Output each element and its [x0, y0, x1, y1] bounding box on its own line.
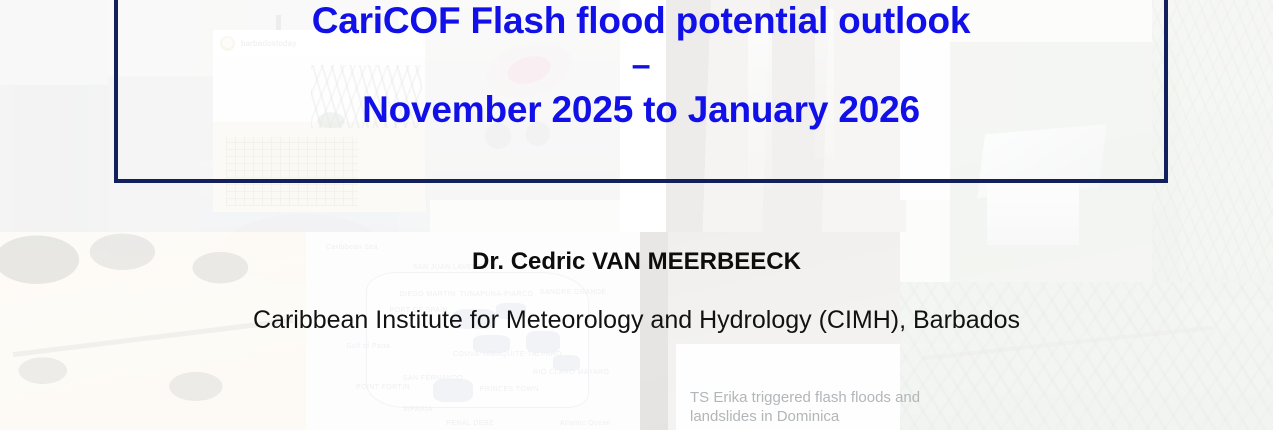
- photo-caption-text: TS Erika triggered flash floods and land…: [690, 388, 960, 426]
- title-line-2: November 2025 to January 2026: [114, 87, 1168, 132]
- map-label-diego-martin: DIEGO MARTIN: [400, 291, 456, 298]
- map-label-gulf-of-paria: Gulf of Paria: [346, 343, 390, 350]
- map-region-shade-6: [433, 379, 473, 403]
- page-title: CariCOF Flash flood potential outlook – …: [114, 0, 1168, 132]
- map-label-penal-debe: PENAL DEBE: [446, 420, 494, 427]
- map-label-atlantic-ocean: Atlantic Ocean: [560, 420, 611, 427]
- house-body: [987, 181, 1079, 245]
- map-label-san-fernando: SAN FERNANDO: [403, 375, 463, 382]
- title-line-1: CariCOF Flash flood potential outlook: [114, 0, 1168, 43]
- stone-wall: [226, 137, 358, 206]
- author-name: Dr. Cedric VAN MEERBEECK: [0, 248, 1273, 276]
- map-label-tunapuna: TUNAPUNA-PIARCO: [460, 291, 534, 298]
- presentation-title-slide: barbadostoday Caribbean Sea: [0, 0, 1273, 430]
- affiliation: Caribbean Institute for Meteorology and …: [0, 306, 1273, 335]
- map-label-siparia: SIPARIA: [403, 406, 433, 413]
- map-label-rio-claro: RIO CLARO MAYARO: [533, 369, 609, 376]
- map-label-couva: COUVA-TABAQUITE-TALPARO: [453, 351, 562, 358]
- map-label-princes-town: PRINCES TOWN: [480, 386, 539, 393]
- title-separator: –: [114, 43, 1168, 87]
- map-label-sangre-grande: SANGRE GRANDE: [540, 289, 607, 296]
- map-label-point-fortin: POINT FORTIN: [356, 384, 410, 391]
